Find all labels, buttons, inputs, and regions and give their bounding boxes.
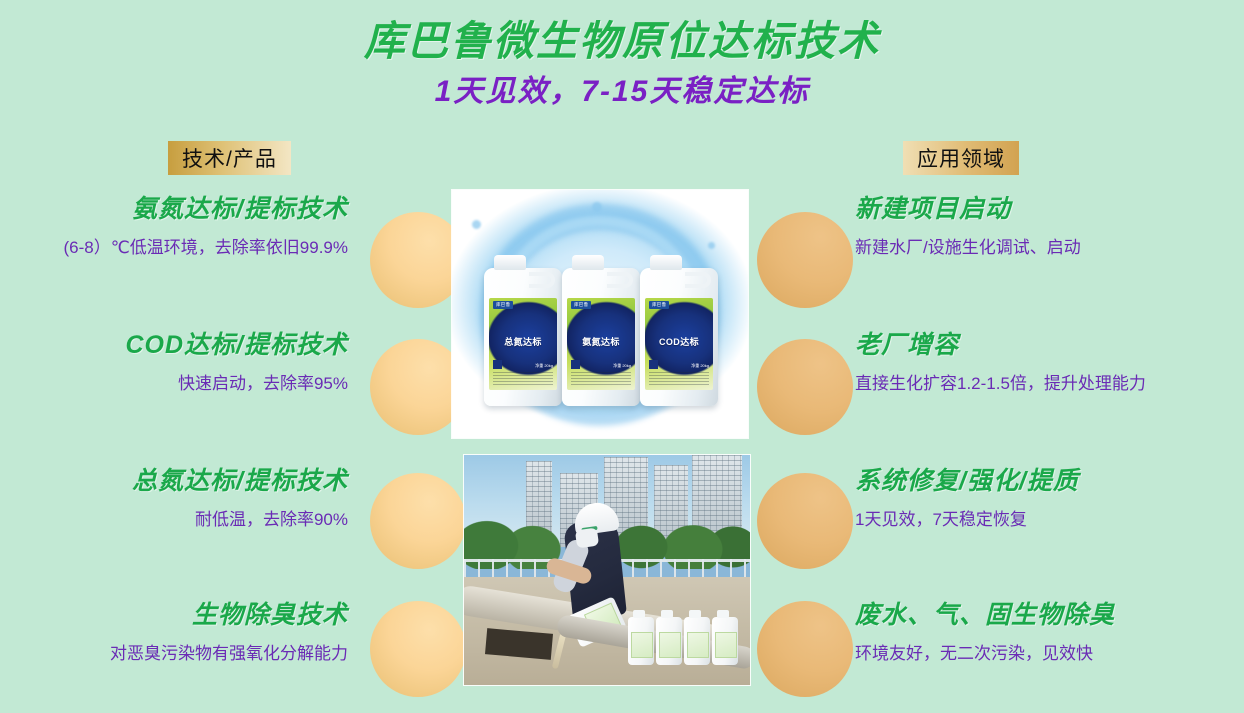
bottle-handle-icon: [607, 272, 633, 288]
right-item-2-heading: 老厂增容: [855, 330, 1225, 360]
water-droplet: [472, 220, 481, 229]
bottle-cap-icon: [494, 255, 526, 270]
decor-circle-right-2: [757, 339, 853, 435]
left-item-2-heading: COD达标/提标技术: [0, 330, 348, 360]
page-title: 库巴鲁微生物原位达标技术: [0, 16, 1244, 66]
decor-circle-left-3: [370, 473, 466, 569]
bottle-net-weight-1: 净重 20kg: [535, 363, 553, 369]
decor-circle-right-4: [757, 601, 853, 697]
right-item-4: 废水、气、固生物除臭 环境友好，无二次污染，见效快: [855, 600, 1225, 666]
right-item-4-description: 环境友好，无二次污染，见效快: [855, 643, 1225, 666]
bottle-cap-icon: [572, 255, 604, 270]
water-droplet: [708, 242, 715, 249]
bottle-fineprint: [571, 372, 631, 387]
bottle-net-weight-3: 净重 20kg: [691, 363, 709, 369]
bottle-net-weight-2: 净重 20kg: [613, 363, 631, 369]
decor-circle-left-4: [370, 601, 466, 697]
bottle-label-2: 库巴鲁 氨氮达标 净重 20kg: [567, 298, 635, 390]
decor-circle-right-3: [757, 473, 853, 569]
water-droplet: [592, 202, 602, 212]
right-item-1: 新建项目启动 新建水厂/设施生化调试、启动: [855, 194, 1225, 260]
left-column-badge: 技术/产品: [168, 141, 291, 175]
bottle-qr-icon: [571, 360, 580, 369]
stacked-jug: [628, 617, 654, 665]
worker-face-mask: [575, 528, 599, 549]
bottle-label-1: 库巴鲁 总氮达标 净重 20kg: [489, 298, 557, 390]
bottle-fineprint: [493, 372, 553, 387]
stacked-jug: [656, 617, 682, 665]
left-item-4: 生物除臭技术 对恶臭污染物有强氧化分解能力: [0, 600, 360, 666]
product-bottle-3: 库巴鲁 COD达标 净重 20kg: [640, 268, 718, 406]
bottle-product-name-3: COD达标: [645, 335, 713, 348]
bottle-product-name-2: 氨氮达标: [567, 335, 635, 348]
left-item-2-description: 快速启动，去除率95%: [0, 373, 348, 396]
bottle-label-3: 库巴鲁 COD达标 净重 20kg: [645, 298, 713, 390]
right-item-3-heading: 系统修复/强化/提质: [855, 466, 1225, 496]
bottle-product-name-1: 总氮达标: [489, 335, 557, 348]
bottle-handle-icon: [685, 272, 711, 288]
bottle-handle-icon: [529, 272, 555, 288]
stacked-jug: [684, 617, 710, 665]
left-item-3: 总氮达标/提标技术 耐低温，去除率90%: [0, 466, 360, 532]
right-item-3-description: 1天见效，7天稳定恢复: [855, 509, 1225, 532]
bottle-brand-1: 库巴鲁: [493, 301, 513, 309]
right-item-1-description: 新建水厂/设施生化调试、启动: [855, 237, 1225, 260]
page-subtitle: 1天见效，7-15天稳定达标: [0, 74, 1244, 110]
stacked-jug: [712, 617, 738, 665]
product-photo: 库巴鲁 总氮达标 净重 20kg 库巴鲁 氨氮达标 净重 20kg 库巴鲁: [452, 190, 748, 438]
bottle-brand-2: 库巴鲁: [571, 301, 591, 309]
bottle-brand-3: 库巴鲁: [649, 301, 669, 309]
bottle-cap-icon: [650, 255, 682, 270]
left-item-1-heading: 氨氮达标/提标技术: [0, 194, 348, 224]
left-item-4-heading: 生物除臭技术: [0, 600, 348, 630]
bottle-fineprint: [649, 372, 709, 387]
right-item-4-heading: 废水、气、固生物除臭: [855, 600, 1225, 630]
decor-circle-right-1: [757, 212, 853, 308]
left-item-4-description: 对恶臭污染物有强氧化分解能力: [0, 643, 348, 666]
right-item-3: 系统修复/强化/提质 1天见效，7天稳定恢复: [855, 466, 1225, 532]
bottle-qr-icon: [493, 360, 502, 369]
poster-root: 库巴鲁微生物原位达标技术 1天见效，7-15天稳定达标 技术/产品 应用领域 氨…: [0, 0, 1244, 713]
left-item-3-heading: 总氮达标/提标技术: [0, 466, 348, 496]
product-bottle-1: 库巴鲁 总氮达标 净重 20kg: [484, 268, 562, 406]
left-item-3-description: 耐低温，去除率90%: [0, 509, 348, 532]
title-block: 库巴鲁微生物原位达标技术 1天见效，7-15天稳定达标: [0, 16, 1244, 110]
right-item-2: 老厂增容 直接生化扩容1.2-1.5倍，提升处理能力: [855, 330, 1225, 396]
right-item-1-heading: 新建项目启动: [855, 194, 1225, 224]
product-bottle-2: 库巴鲁 氨氮达标 净重 20kg: [562, 268, 640, 406]
right-column-badge: 应用领域: [903, 141, 1019, 175]
left-item-2: COD达标/提标技术 快速启动，去除率95%: [0, 330, 360, 396]
right-item-2-description: 直接生化扩容1.2-1.5倍，提升处理能力: [855, 373, 1225, 396]
left-item-1-description: (6-8）℃低温环境，去除率依旧99.9%: [0, 237, 348, 260]
left-item-1: 氨氮达标/提标技术 (6-8）℃低温环境，去除率依旧99.9%: [0, 194, 360, 260]
site-photo: [464, 455, 750, 685]
bottle-qr-icon: [649, 360, 658, 369]
